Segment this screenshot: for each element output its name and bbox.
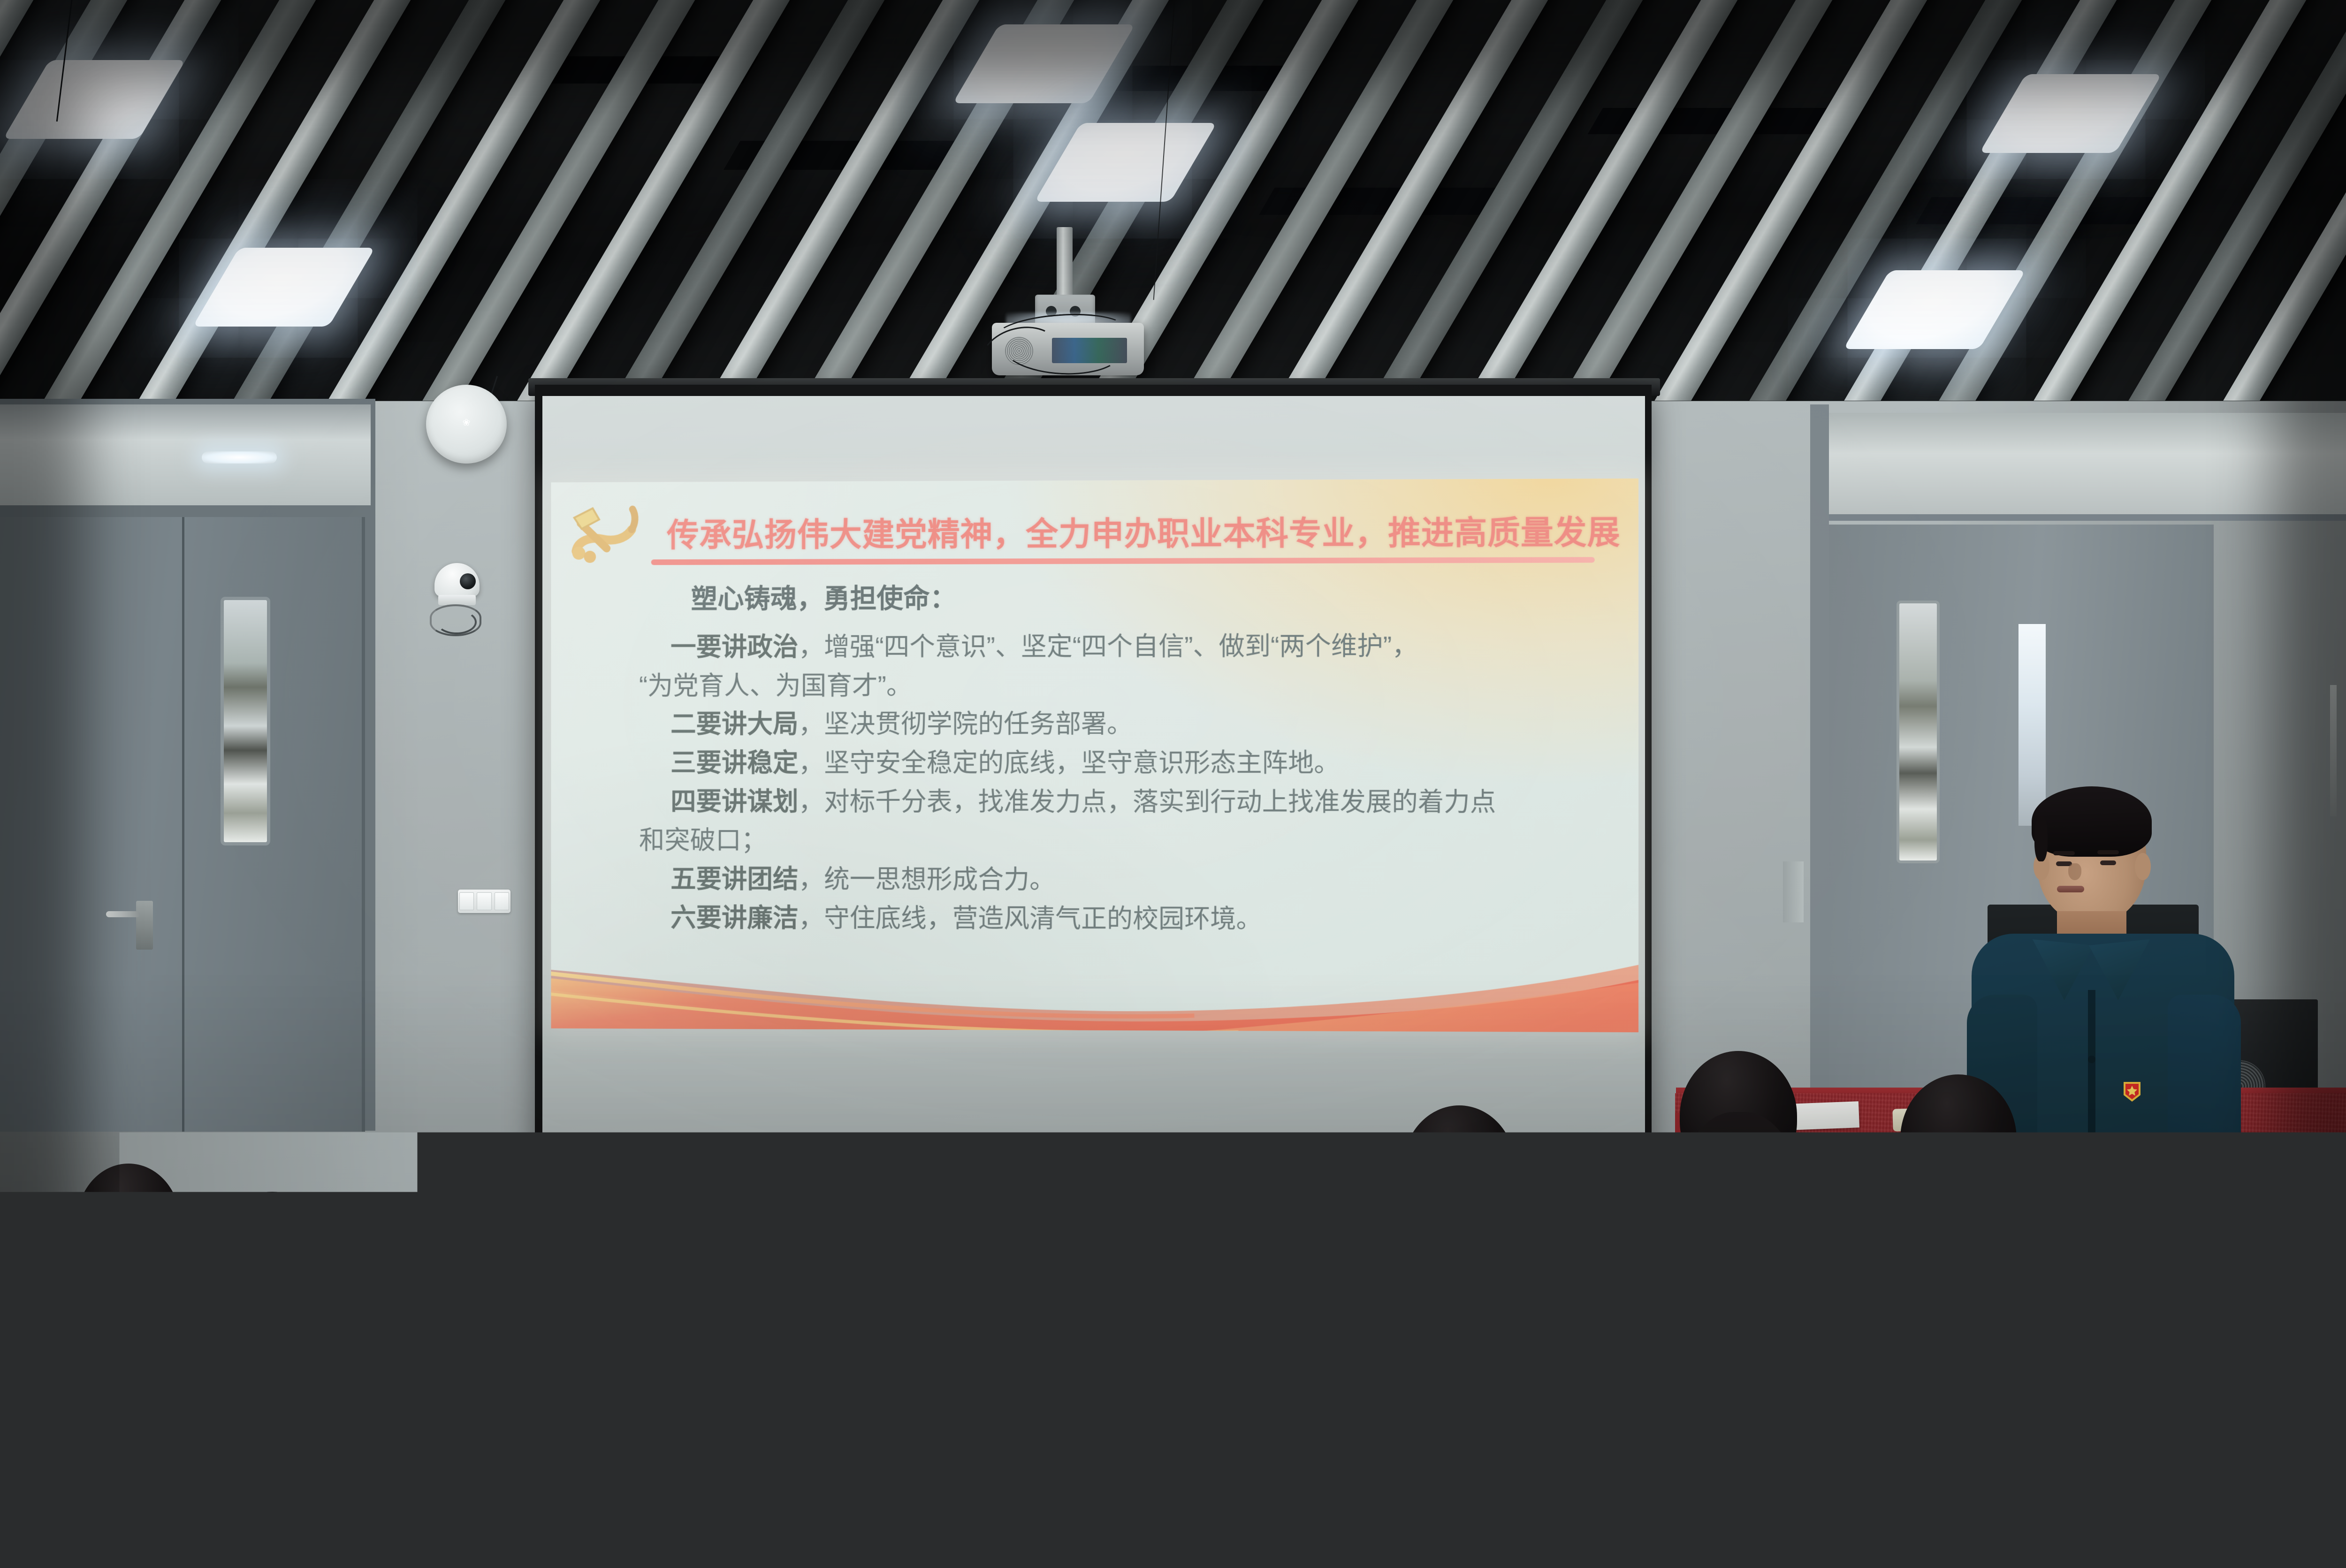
wall-pilaster — [1783, 861, 1804, 922]
huawei-logo: ❀ — [457, 418, 476, 428]
switch-rocker[interactable] — [459, 892, 474, 910]
slide-wave-decoration — [551, 879, 1638, 1032]
security-camera-icon — [422, 563, 493, 652]
projected-slide: 传承弘扬伟大建党精神，全力申办职业本科专业，推进高质量发展 塑心铸魂，勇担使命：… — [551, 479, 1638, 1032]
left-transom-window — [0, 404, 371, 511]
slide-bullet-4: 四要讲谋划，对标千分表，找准发力点，落实到行动上找准发展的着力点 — [670, 784, 1606, 820]
black-mesh-office-chair[interactable] — [1023, 1155, 1239, 1352]
presenter-eyebrow — [2053, 851, 2075, 855]
corridor-ceiling-light — [202, 451, 277, 464]
desk-rear-brace — [554, 1206, 1483, 1220]
door-vision-panel — [1897, 601, 1940, 863]
presenter-ear — [2135, 853, 2151, 880]
ceiling-projector-icon — [976, 244, 1173, 399]
presenter-hair — [2032, 786, 2152, 857]
shirt-button — [2088, 1149, 2095, 1157]
conference-room-photo: ❀ — [0, 0, 2346, 1568]
camera-lens — [460, 573, 476, 589]
right-door-frame — [1810, 404, 1829, 1108]
switch-rocker[interactable] — [495, 892, 509, 910]
shirt-button — [2088, 1056, 2095, 1063]
ceiling-baffle-assembly — [0, 0, 2346, 413]
slide-title: 传承弘扬伟大建党精神，全力申办职业本科专业，推进高质量发展 — [667, 506, 1606, 556]
door-center-seam — [182, 517, 184, 1132]
slide-title-underline — [651, 557, 1595, 565]
presenter-right-arm — [2168, 995, 2241, 1342]
wifi-access-point-icon: ❀ — [426, 385, 507, 464]
cpc-hammer-sickle-emblem — [562, 496, 650, 566]
slide-bullet-4-cont: 和突破口； — [639, 822, 1606, 859]
camera-dome — [434, 563, 480, 597]
party-emblem-lapel-pin — [2122, 1079, 2142, 1104]
door-vision-panel — [221, 597, 270, 845]
slide-bullet-2: 二要讲大局，坚决贯彻学院的任务部署。 — [670, 706, 1606, 742]
slide-heading: 塑心铸魂，勇担使命： — [691, 578, 1606, 617]
chair-mesh-back — [1032, 1163, 1229, 1347]
slide-bullet-1: 一要讲政治，增强“四个意识”、坚定“四个自信”、做到“两个维护”， — [670, 628, 1606, 665]
camera-cable-coil — [436, 610, 477, 634]
presenter-eyebrow — [2097, 850, 2119, 854]
camera-base — [438, 595, 476, 605]
presenter-mouth — [2057, 886, 2084, 892]
door-handle[interactable] — [136, 901, 153, 950]
switch-rocker[interactable] — [477, 892, 491, 910]
presenter-nose — [2068, 863, 2081, 880]
presenter-eye — [2100, 860, 2116, 865]
slide-bullet-1-cont: “为党育人、为国育才”。 — [639, 667, 1606, 703]
desk-leg — [1295, 1286, 1306, 1465]
right-transom-window — [1818, 413, 2346, 521]
light-switch-icon[interactable] — [458, 890, 510, 913]
door-hinge — [2330, 685, 2337, 816]
slide-bullet-3: 三要讲稳定，坚守安全稳定的底线，坚守意识形态主阵地。 — [670, 745, 1606, 781]
projector-mount-pole — [1057, 227, 1073, 297]
open-notebook — [1276, 1163, 1338, 1187]
